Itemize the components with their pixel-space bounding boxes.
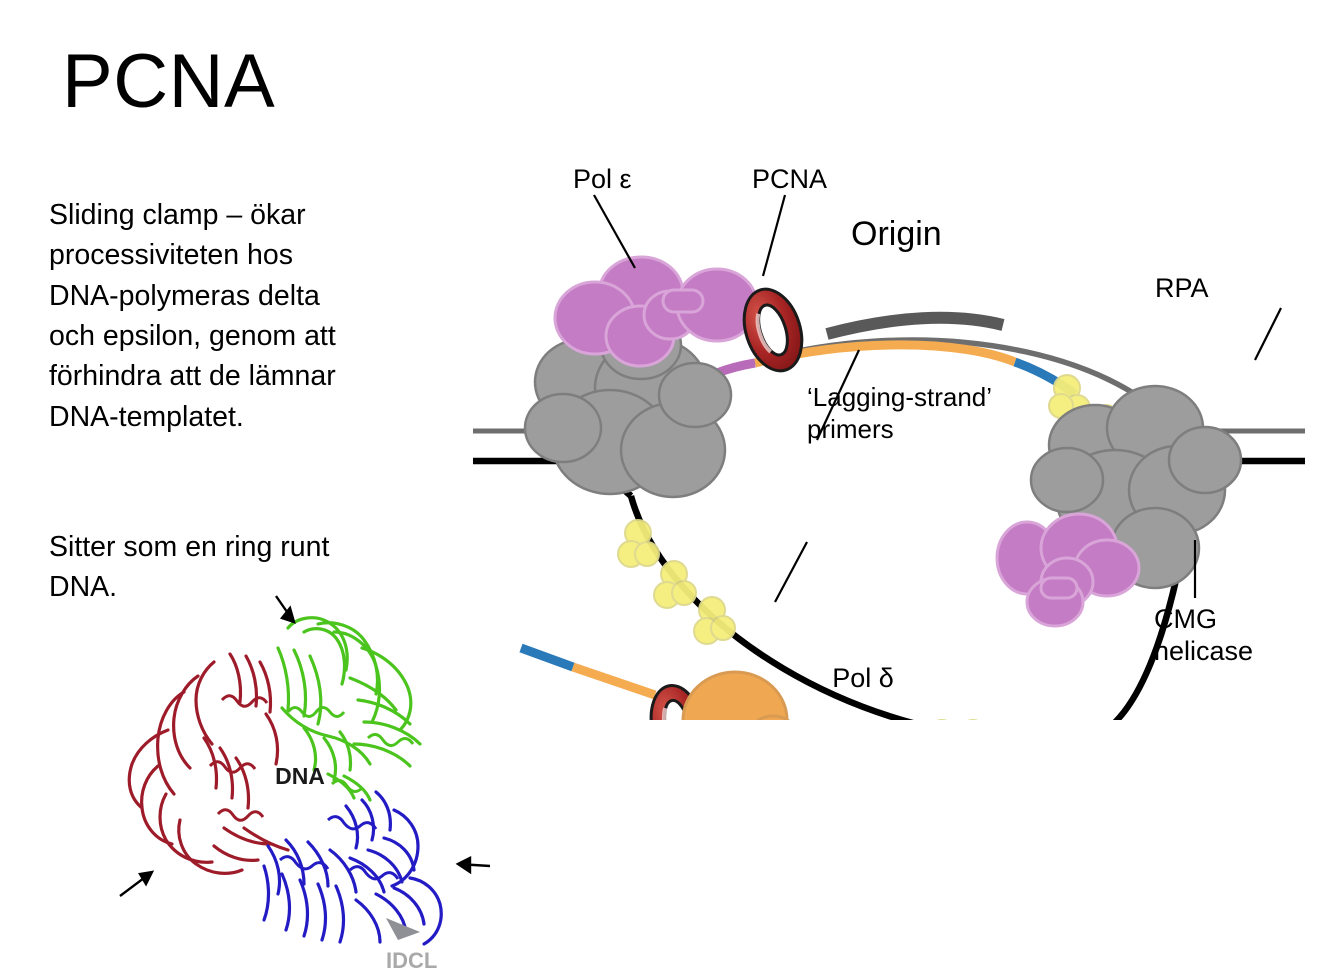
primer-stub-purple (717, 363, 755, 373)
label-cmg-line1: CMG (1154, 604, 1217, 634)
leader-pol-epsilon (594, 195, 635, 268)
label-lagging-strand-line1: ‘Lagging-strand’ (807, 382, 992, 412)
pcna-red-helices (210, 696, 267, 821)
structure-idcl-label: IDCL (386, 948, 437, 973)
leader-pcna (763, 195, 785, 276)
pcna-structure-figure: DNA IDCL (118, 588, 493, 978)
label-rpa: RPA (1155, 273, 1209, 303)
pcna-subunit-red (129, 654, 288, 873)
structure-arrow-left (120, 872, 152, 896)
label-pcna: PCNA (752, 164, 827, 194)
label-cmg-line2: helicase (1154, 636, 1253, 666)
replication-bubble-figure: Pol ε PCNA Origin RPA ‘Lagging-strand’ p… (455, 150, 1320, 720)
structure-arrow-top (276, 596, 294, 622)
structure-dna-label: DNA (275, 763, 325, 789)
pcna-blue-helices (280, 817, 398, 879)
label-pol-epsilon: Pol ε (573, 164, 632, 194)
slide-canvas: PCNA Sliding clamp – ökar processivitete… (0, 0, 1320, 978)
lagging-primer-blue-bottom (521, 648, 573, 667)
leader-lagging-bottom (775, 542, 807, 602)
leader-rpa (1255, 308, 1281, 360)
origin-segment (827, 318, 1003, 334)
structure-arrow-right (458, 858, 490, 872)
page-title: PCNA (62, 42, 275, 122)
label-lagging-strand-line2: primers (807, 414, 894, 444)
body-paragraph-1: Sliding clamp – ökar processiviteten hos… (49, 195, 349, 437)
label-pol-delta: Pol δ (832, 663, 894, 693)
bottom-nascent-strand (521, 624, 655, 695)
pol-epsilon-left (555, 257, 757, 366)
rpa-beads-bottom-left (618, 520, 735, 644)
label-origin: Origin (851, 215, 942, 253)
pol-delta (677, 672, 799, 720)
nascent-strand-orange-bottom (573, 667, 655, 695)
